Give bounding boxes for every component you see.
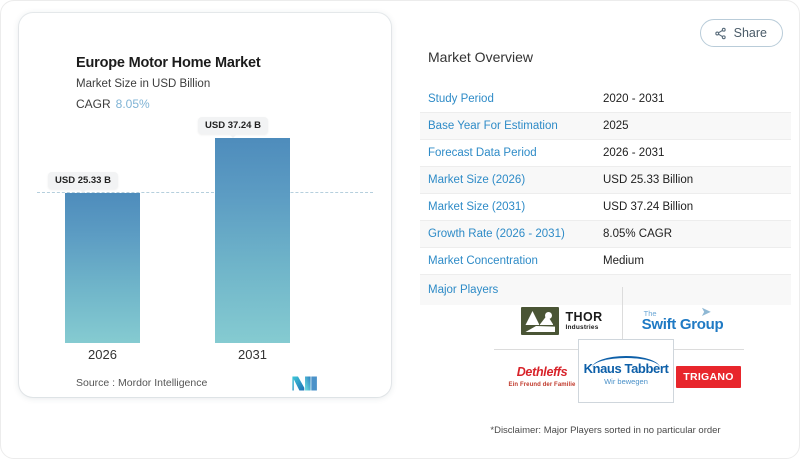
player-tagline: Wir bewegen <box>584 378 669 386</box>
row-key: Study Period <box>428 93 603 105</box>
mordor-intelligence-logo <box>291 375 319 392</box>
bar-2026[interactable] <box>65 193 140 343</box>
major-players-disclaimer: *Disclaimer: Major Players sorted in no … <box>420 425 791 436</box>
bar-group-2026[interactable] <box>65 193 140 343</box>
cagr-value: 8.05% <box>116 97 150 111</box>
market-overview-table: Study Period 2020 - 2031 Base Year For E… <box>420 86 791 305</box>
row-key: Forecast Data Period <box>428 147 603 159</box>
player-tagline: Industries <box>565 325 602 332</box>
bar-chart-plot-area: USD 25.33 B USD 37.24 B <box>37 123 373 343</box>
table-row: Market Size (2031) USD 37.24 Billion <box>420 194 791 221</box>
row-value: 2025 <box>603 120 629 132</box>
table-row: Study Period 2020 - 2031 <box>420 86 791 113</box>
player-logo-dethleffs[interactable]: Dethleffs Ein Freund der Familie <box>506 351 578 403</box>
bar-group-2031[interactable] <box>215 138 290 343</box>
player-name: THOR <box>565 311 602 324</box>
row-key: Market Size (2031) <box>428 201 603 213</box>
share-button-label: Share <box>734 26 767 40</box>
chart-title: Europe Motor Home Market <box>76 55 261 71</box>
bar-value-label-2031: USD 37.24 B <box>198 117 268 134</box>
player-name: Dethleffs <box>509 366 576 380</box>
share-nodes-icon <box>714 27 727 40</box>
row-value: USD 25.33 Billion <box>603 174 693 186</box>
table-row: Base Year For Estimation 2025 <box>420 113 791 140</box>
x-axis-tick-2031: 2031 <box>215 347 290 362</box>
row-value: 8.05% CAGR <box>603 228 672 240</box>
market-overview-title: Market Overview <box>428 49 533 65</box>
source-attribution: Source : Mordor Intelligence <box>76 377 207 389</box>
table-row: Market Concentration Medium <box>420 248 791 275</box>
player-name: Swift Group <box>642 317 724 332</box>
row-key: Base Year For Estimation <box>428 120 603 132</box>
row-key: Growth Rate (2026 - 2031) <box>428 228 603 240</box>
x-axis-tick-2026: 2026 <box>65 347 140 362</box>
thor-mark-icon <box>521 307 559 335</box>
row-value: 2020 - 2031 <box>603 93 664 105</box>
grid-divider-vertical <box>622 287 623 347</box>
row-value: USD 37.24 Billion <box>603 201 693 213</box>
table-row: Market Size (2026) USD 25.33 Billion <box>420 167 791 194</box>
cagr-row: CAGR 8.05% <box>76 97 150 111</box>
chart-card: Europe Motor Home Market Market Size in … <box>19 13 391 397</box>
player-name: TRIGANO <box>676 366 741 388</box>
table-row: Forecast Data Period 2026 - 2031 <box>420 140 791 167</box>
major-players-logo-grid: THOR Industries ➤ The Swift Group Dethle… <box>506 295 741 403</box>
row-value: 2026 - 2031 <box>603 147 664 159</box>
table-row: Growth Rate (2026 - 2031) 8.05% CAGR <box>420 221 791 248</box>
row-key: Market Size (2026) <box>428 174 603 186</box>
bar-2031[interactable] <box>215 138 290 343</box>
chart-subtitle: Market Size in USD Billion <box>76 78 210 90</box>
player-logo-knaus-tabbert[interactable]: Knaus Tabbert Wir bewegen <box>578 339 674 403</box>
share-button[interactable]: Share <box>700 19 783 47</box>
arc-icon <box>592 356 660 368</box>
bar-value-label-2026: USD 25.33 B <box>48 172 118 189</box>
market-snapshot-page: Europe Motor Home Market Market Size in … <box>0 0 800 459</box>
row-value: Medium <box>603 255 644 267</box>
player-tagline: Ein Freund der Familie <box>509 382 576 389</box>
x-axis: 2026 2031 <box>37 347 373 367</box>
row-key: Market Concentration <box>428 255 603 267</box>
player-logo-trigano[interactable]: TRIGANO <box>676 351 741 403</box>
bird-icon: ➤ <box>700 305 711 318</box>
cagr-label: CAGR <box>76 97 111 111</box>
